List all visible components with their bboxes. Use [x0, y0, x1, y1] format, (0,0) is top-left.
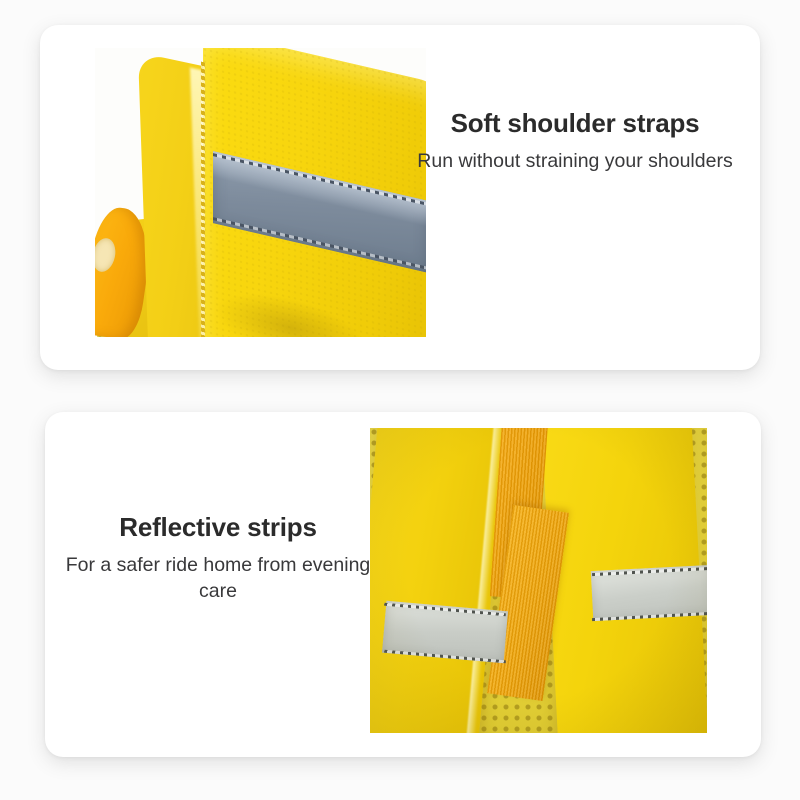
- reflective-strips-closeup-illustration: [370, 428, 707, 733]
- feature-image-soft-shoulder-straps: [95, 48, 426, 337]
- feature-subtitle: For a safer ride home from evening care: [58, 553, 378, 604]
- feature-image-reflective-strips: [370, 428, 707, 733]
- feature-title: Reflective strips: [58, 512, 378, 543]
- feature-title: Soft shoulder straps: [410, 108, 740, 139]
- feature-subtitle: Run without straining your shoulders: [410, 149, 740, 175]
- strap-seam-stitching: [201, 62, 205, 337]
- feature-text-reflective-strips: Reflective strips For a safer ride home …: [58, 512, 378, 605]
- feature-text-soft-shoulder-straps: Soft shoulder straps Run without straini…: [410, 108, 740, 175]
- strap-closeup-illustration: [95, 48, 426, 337]
- photo-vignette: [370, 428, 707, 733]
